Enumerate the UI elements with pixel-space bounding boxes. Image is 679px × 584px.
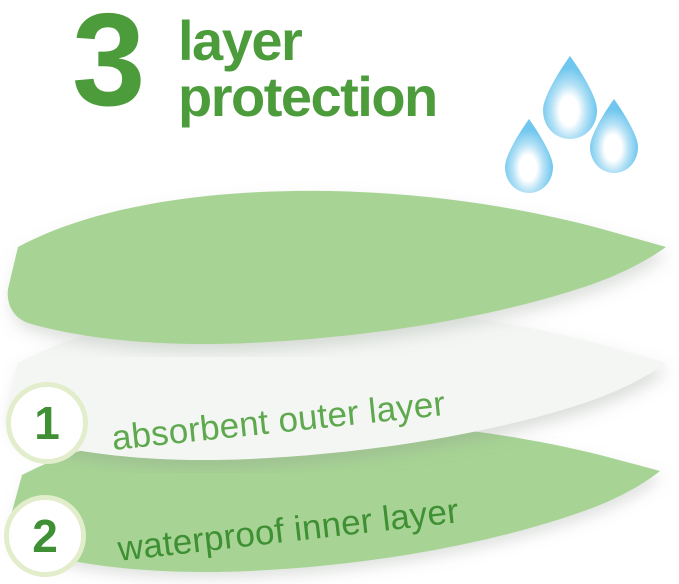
layer-badge-1[interactable]: 1	[6, 382, 88, 464]
layer-badge-2[interactable]: 2	[4, 495, 86, 577]
headline-number: 3	[72, 0, 142, 126]
layers-stack: absorbent outer layer waterproof inner l…	[0, 175, 679, 584]
headline-text: layer protection	[178, 14, 518, 125]
layer-badge-1-number: 1	[34, 400, 60, 446]
three-layer-protection-infographic: 3 layer protection	[0, 0, 679, 584]
headline-line-2: protection	[178, 70, 518, 124]
layer-band-1[interactable]	[0, 181, 679, 357]
title-block: 3 layer protection	[0, 0, 520, 160]
headline-line-1: layer	[178, 14, 518, 68]
layer-badge-2-number: 2	[32, 513, 58, 559]
water-droplet-large	[535, 53, 605, 143]
water-droplet-medium	[583, 96, 645, 176]
